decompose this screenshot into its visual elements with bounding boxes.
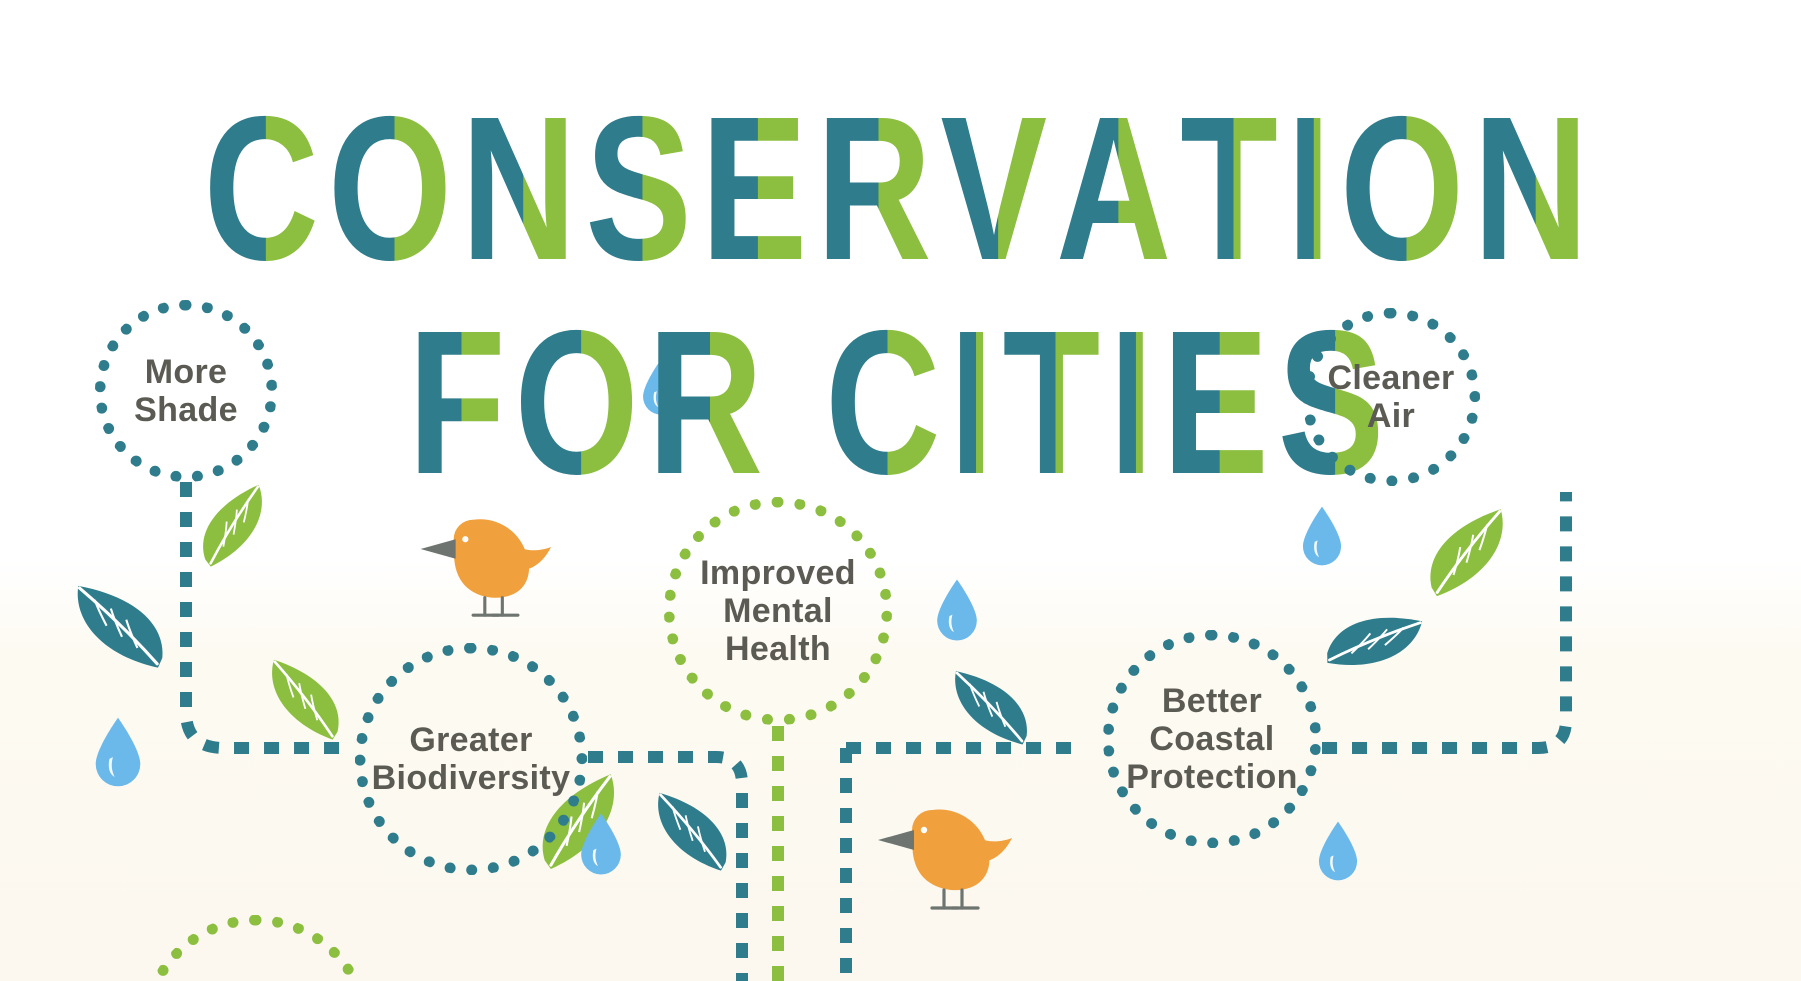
title-block: CONSERVATION FOR CITIES bbox=[0, 0, 1801, 560]
water-droplet-icon bbox=[1316, 820, 1360, 882]
water-droplet-icon bbox=[934, 578, 980, 642]
node-label-greater-biodiversity: Greater Biodiversity bbox=[372, 721, 571, 797]
node-label-more-shade: More Shade bbox=[134, 353, 238, 429]
node-cleaner-air[interactable]: Cleaner Air bbox=[1302, 308, 1480, 486]
node-label-better-coastal-protection: Better Coastal Protection bbox=[1126, 682, 1298, 796]
node-label-improved-mental-health: Improved Mental Health bbox=[700, 554, 856, 668]
node-improved-mental-health[interactable]: Improved Mental Health bbox=[664, 497, 892, 725]
leaf-icon bbox=[1322, 602, 1427, 683]
page-title-line-1: CONSERVATION bbox=[204, 86, 1598, 291]
page-title-line-2: FOR CITIES bbox=[408, 300, 1393, 505]
infographic-canvas: CONSERVATION FOR CITIES More ShadeCleane… bbox=[0, 0, 1801, 981]
node-more-shade[interactable]: More Shade bbox=[95, 300, 277, 482]
water-droplet-icon bbox=[578, 812, 624, 876]
node-better-coastal-protection[interactable]: Better Coastal Protection bbox=[1103, 630, 1321, 848]
node-label-cleaner-air: Cleaner Air bbox=[1327, 359, 1454, 435]
water-droplet-icon bbox=[92, 716, 144, 788]
bird-icon bbox=[862, 800, 1012, 915]
node-greater-biodiversity[interactable]: Greater Biodiversity bbox=[355, 643, 587, 875]
